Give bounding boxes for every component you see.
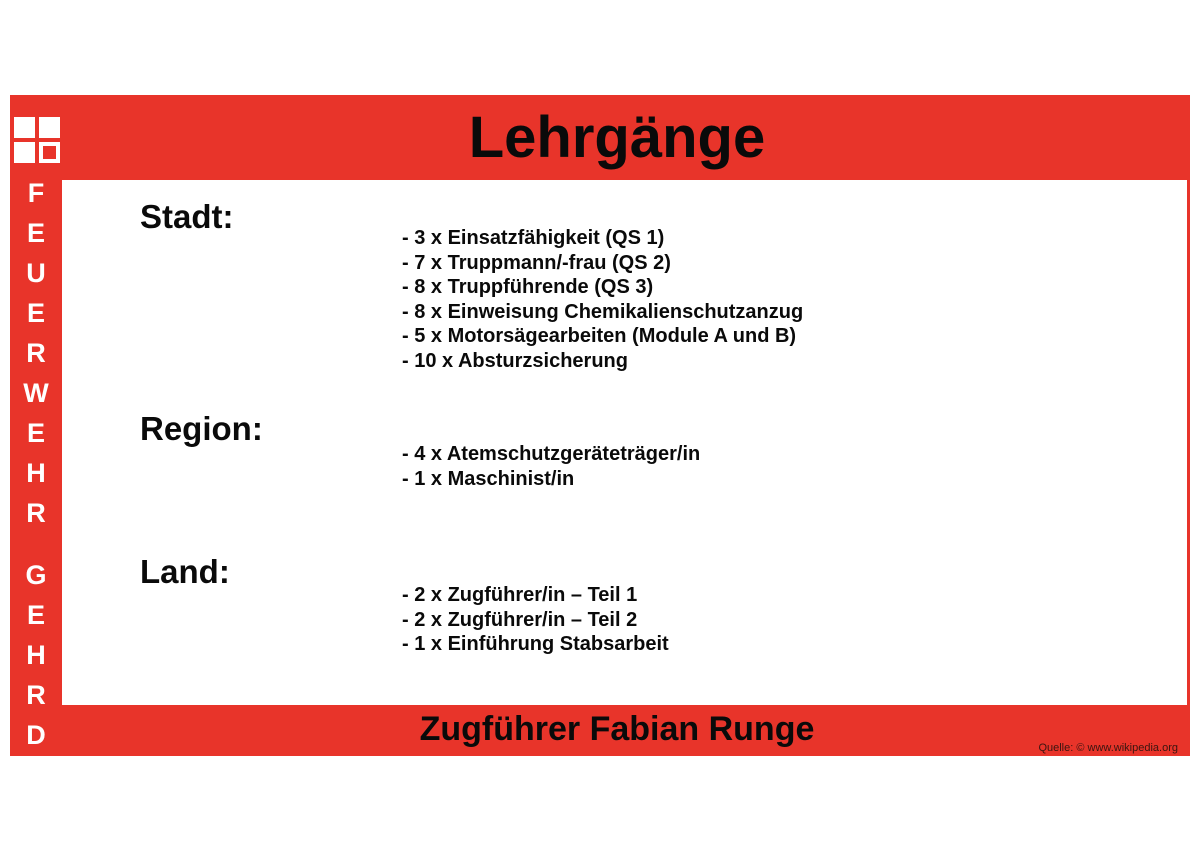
brand-letter: E — [10, 213, 62, 253]
footer-title: Zugführer Fabian Runge — [62, 705, 1172, 753]
brand-letter: E — [10, 413, 62, 453]
section-list-stadt: - 3 x Einsatzfähigkeit (QS 1)- 7 x Trupp… — [402, 226, 803, 373]
brand-letter: E — [10, 595, 62, 635]
list-item: - 7 x Truppmann/-frau (QS 2) — [402, 251, 803, 276]
list-item: - 2 x Zugführer/in – Teil 2 — [402, 608, 669, 633]
brand-letter: H — [10, 635, 62, 675]
list-item: - 1 x Maschinist/in — [402, 467, 700, 492]
list-item: - 5 x Motorsägearbeiten (Module A und B) — [402, 324, 803, 349]
logo-square-bottom-left — [14, 142, 35, 163]
brand-sidebar: FEUERWEHR GEHRDEN — [10, 95, 62, 756]
logo-square-bottom-right-outlined — [39, 142, 60, 163]
source-credit: Quelle: © www.wikipedia.org — [1038, 742, 1178, 754]
logo-square-top-right — [39, 117, 60, 138]
section-list-land: - 2 x Zugführer/in – Teil 1- 2 x Zugführ… — [402, 583, 669, 657]
header-band: Lehrgänge — [62, 95, 1190, 180]
brand-letter: R — [10, 333, 62, 373]
section-heading-region: Region: — [140, 410, 263, 448]
brand-letter: W — [10, 373, 62, 413]
vertical-brand-spacer — [10, 533, 62, 555]
list-item: - 4 x Atemschutzgeräteträger/in — [402, 442, 700, 467]
brand-letter: G — [10, 555, 62, 595]
feuerwehr-logo-icon — [14, 117, 60, 163]
list-item: - 2 x Zugführer/in – Teil 1 — [402, 583, 669, 608]
slide-frame: FEUERWEHR GEHRDEN Lehrgänge Stadt: - 3 x… — [10, 95, 1190, 756]
brand-letter: R — [10, 675, 62, 715]
list-item: - 1 x Einführung Stabsarbeit — [402, 632, 669, 657]
list-item: - 3 x Einsatzfähigkeit (QS 1) — [402, 226, 803, 251]
brand-letter: N — [10, 795, 62, 835]
vertical-brand-name: FEUERWEHR GEHRDEN — [10, 173, 62, 835]
section-heading-land: Land: — [140, 553, 230, 591]
list-item: - 8 x Einweisung Chemikalienschutzanzug — [402, 300, 803, 325]
footer-band: Zugführer Fabian Runge Quelle: © www.wik… — [62, 705, 1190, 756]
brand-letter: E — [10, 755, 62, 795]
brand-letter: U — [10, 253, 62, 293]
vertical-brand-line-feuerwehr: FEUERWEHR — [10, 173, 62, 533]
brand-letter: E — [10, 293, 62, 333]
brand-letter: R — [10, 493, 62, 533]
list-item: - 10 x Absturzsicherung — [402, 349, 803, 374]
content-panel: Stadt: - 3 x Einsatzfähigkeit (QS 1)- 7 … — [62, 180, 1187, 705]
brand-letter: H — [10, 453, 62, 493]
brand-letter: D — [10, 715, 62, 755]
brand-letter: F — [10, 173, 62, 213]
section-list-region: - 4 x Atemschutzgeräteträger/in- 1 x Mas… — [402, 442, 700, 491]
vertical-brand-line-gehrden: GEHRDEN — [10, 555, 62, 835]
logo-square-top-left — [14, 117, 35, 138]
list-item: - 8 x Truppführende (QS 3) — [402, 275, 803, 300]
section-heading-stadt: Stadt: — [140, 198, 234, 236]
page-title: Lehrgänge — [62, 95, 1172, 180]
